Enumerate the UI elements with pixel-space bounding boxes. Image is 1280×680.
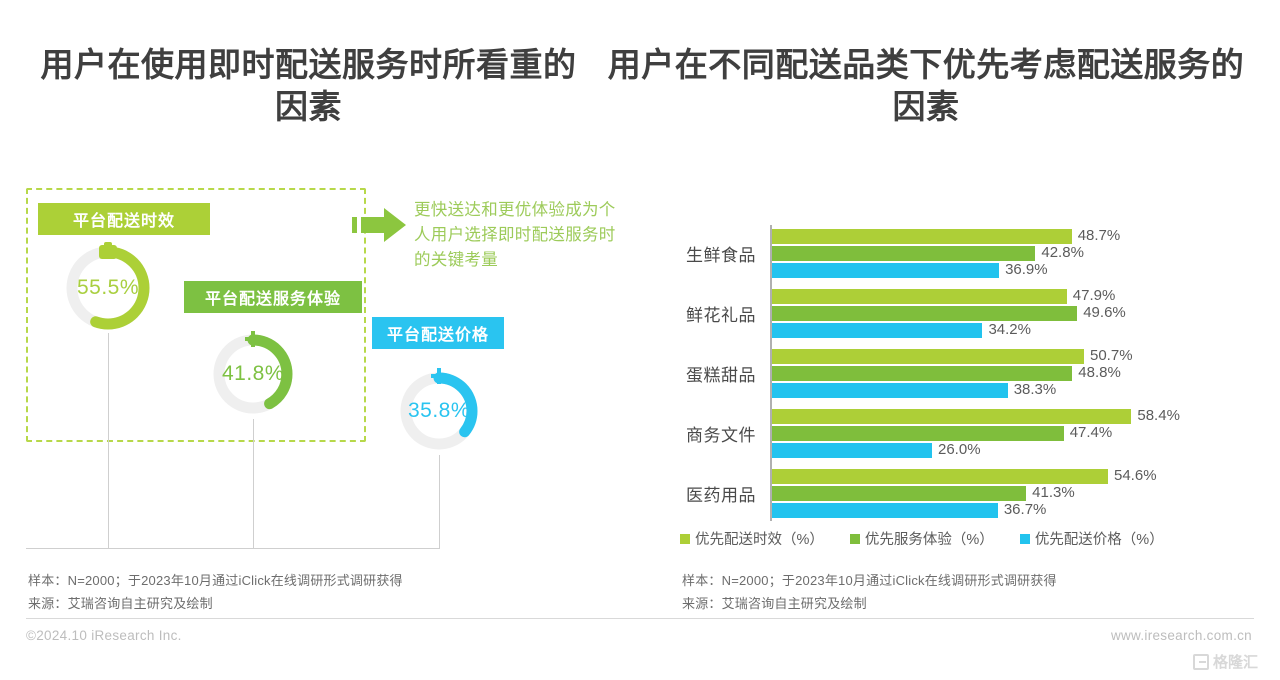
category-bars: 58.4%47.4%26.0% — [772, 409, 1260, 460]
bar-value-label: 38.3% — [1014, 381, 1057, 398]
donut-chart-delivery-price: 35.8% — [396, 368, 482, 454]
right-arrow-icon — [352, 205, 408, 245]
donut-chart-delivery-speed: 55.5% — [62, 242, 154, 334]
bar — [772, 289, 1067, 304]
leader-line — [439, 455, 440, 549]
bar — [772, 383, 1008, 398]
leader-line — [108, 333, 109, 549]
bar-value-label: 36.7% — [1004, 501, 1047, 518]
bar — [772, 443, 932, 458]
bar-line: 36.9% — [772, 263, 1260, 278]
bar-line: 47.9% — [772, 289, 1260, 304]
footnote-left: 样本：N=2000；于2023年10月通过iClick在线调研形式调研获得 来源… — [28, 570, 403, 616]
bar-line: 42.8% — [772, 246, 1260, 261]
legend-swatch — [850, 534, 860, 544]
bar — [772, 323, 982, 338]
legend-swatch — [1020, 534, 1030, 544]
watermark-logo-icon — [1193, 654, 1209, 670]
bar — [772, 486, 1026, 501]
bar — [772, 349, 1084, 364]
bar — [772, 469, 1108, 484]
chart-category-row: 蛋糕甜品50.7%48.8%38.3% — [660, 345, 1260, 401]
briefcase-icon — [99, 245, 117, 259]
bar — [772, 306, 1077, 321]
bar-line: 38.3% — [772, 383, 1260, 398]
category-label: 商务文件 — [660, 405, 756, 461]
bar-line: 49.6% — [772, 306, 1260, 321]
chart-category-row: 鲜花礼品47.9%49.6%34.2% — [660, 285, 1260, 341]
factor-tag-label: 平台配送价格 — [387, 321, 489, 345]
bar-line: 50.7% — [772, 349, 1260, 364]
legend-label: 优先配送价格（%） — [1035, 528, 1164, 549]
leader-line — [253, 419, 254, 549]
bar-value-label: 58.4% — [1137, 407, 1180, 424]
bar — [772, 409, 1131, 424]
category-bars: 47.9%49.6%34.2% — [772, 289, 1260, 340]
factor-tag-service-experience: 平台配送服务体验 — [184, 281, 362, 313]
bar-value-label: 41.3% — [1032, 484, 1075, 501]
bar-line: 48.8% — [772, 366, 1260, 381]
footnote-right: 样本：N=2000；于2023年10月通过iClick在线调研形式调研获得 来源… — [682, 570, 1057, 616]
bar-line: 58.4% — [772, 409, 1260, 424]
category-bars: 54.6%41.3%36.7% — [772, 469, 1260, 520]
watermark-label: 格隆汇 — [1213, 651, 1258, 672]
footnote-source: 来源：艾瑞咨询自主研究及绘制 — [28, 593, 403, 616]
bar-line: 47.4% — [772, 426, 1260, 441]
website-url: www.iresearch.com.cn — [1111, 628, 1252, 643]
bar-line: 54.6% — [772, 469, 1260, 484]
footer-divider — [26, 618, 1254, 619]
bar-value-label: 47.9% — [1073, 287, 1116, 304]
bar-chart: 生鲜食品48.7%42.8%36.9%鲜花礼品47.9%49.6%34.2%蛋糕… — [660, 225, 1260, 525]
bar-value-label: 48.7% — [1078, 227, 1121, 244]
legend-label: 优先配送时效（%） — [695, 528, 824, 549]
legend-item[interactable]: 优先服务体验（%） — [850, 528, 994, 549]
factor-tag-label: 平台配送服务体验 — [205, 285, 341, 309]
legend-item[interactable]: 优先配送价格（%） — [1020, 528, 1164, 549]
donut-chart-service-experience: 41.8% — [209, 330, 297, 418]
category-bars: 50.7%48.8%38.3% — [772, 349, 1260, 400]
bar-value-label: 36.9% — [1005, 261, 1048, 278]
bar-line: 36.7% — [772, 503, 1260, 518]
page-title-right: 用户在不同配送品类下优先考虑配送服务的因素 — [596, 44, 1256, 128]
watermark: 格隆汇 — [1193, 651, 1258, 672]
legend-item[interactable]: 优先配送时效（%） — [680, 528, 824, 549]
cross-icon — [431, 368, 447, 384]
category-label: 鲜花礼品 — [660, 285, 756, 341]
bar-value-label: 34.2% — [988, 321, 1031, 338]
bar-line: 41.3% — [772, 486, 1260, 501]
bar-value-label: 42.8% — [1041, 244, 1084, 261]
category-label: 医药用品 — [660, 465, 756, 521]
legend-label: 优先服务体验（%） — [865, 528, 994, 549]
bar-line: 34.2% — [772, 323, 1260, 338]
bar-value-label: 54.6% — [1114, 467, 1157, 484]
chart-category-row: 医药用品54.6%41.3%36.7% — [660, 465, 1260, 521]
chart-category-row: 商务文件58.4%47.4%26.0% — [660, 405, 1260, 461]
bar-line: 26.0% — [772, 443, 1260, 458]
chart-legend: 优先配送时效（%）优先服务体验（%）优先配送价格（%） — [680, 528, 1240, 549]
factor-tag-delivery-price: 平台配送价格 — [372, 317, 504, 349]
bar — [772, 263, 999, 278]
bar — [772, 503, 998, 518]
category-label: 生鲜食品 — [660, 225, 756, 281]
page-title-left: 用户在使用即时配送服务时所看重的因素 — [36, 44, 581, 128]
cross-icon — [245, 331, 261, 347]
bar-value-label: 26.0% — [938, 441, 981, 458]
category-label: 蛋糕甜品 — [660, 345, 756, 401]
factor-tag-label: 平台配送时效 — [73, 207, 175, 231]
bar — [772, 366, 1072, 381]
leader-baseline — [26, 548, 440, 549]
factor-tag-delivery-speed: 平台配送时效 — [38, 203, 210, 235]
bar — [772, 426, 1064, 441]
bar-value-label: 49.6% — [1083, 304, 1126, 321]
bar-value-label: 50.7% — [1090, 347, 1133, 364]
bar-line: 48.7% — [772, 229, 1260, 244]
bar — [772, 229, 1072, 244]
chart-category-row: 生鲜食品48.7%42.8%36.9% — [660, 225, 1260, 281]
bar-value-label: 48.8% — [1078, 364, 1121, 381]
footnote-sample: 样本：N=2000；于2023年10月通过iClick在线调研形式调研获得 — [28, 570, 403, 593]
footnote-source: 来源：艾瑞咨询自主研究及绘制 — [682, 593, 1057, 616]
footnote-sample: 样本：N=2000；于2023年10月通过iClick在线调研形式调研获得 — [682, 570, 1057, 593]
category-bars: 48.7%42.8%36.9% — [772, 229, 1260, 280]
bar-value-label: 47.4% — [1070, 424, 1113, 441]
copyright-text: ©2024.10 iResearch Inc. — [26, 628, 182, 643]
slide-canvas: 用户在使用即时配送服务时所看重的因素 用户在不同配送品类下优先考虑配送服务的因素… — [0, 0, 1280, 680]
legend-swatch — [680, 534, 690, 544]
bar — [772, 246, 1035, 261]
annotation-text: 更快送达和更优体验成为个人用户选择即时配送服务时的关键考量 — [414, 198, 624, 273]
